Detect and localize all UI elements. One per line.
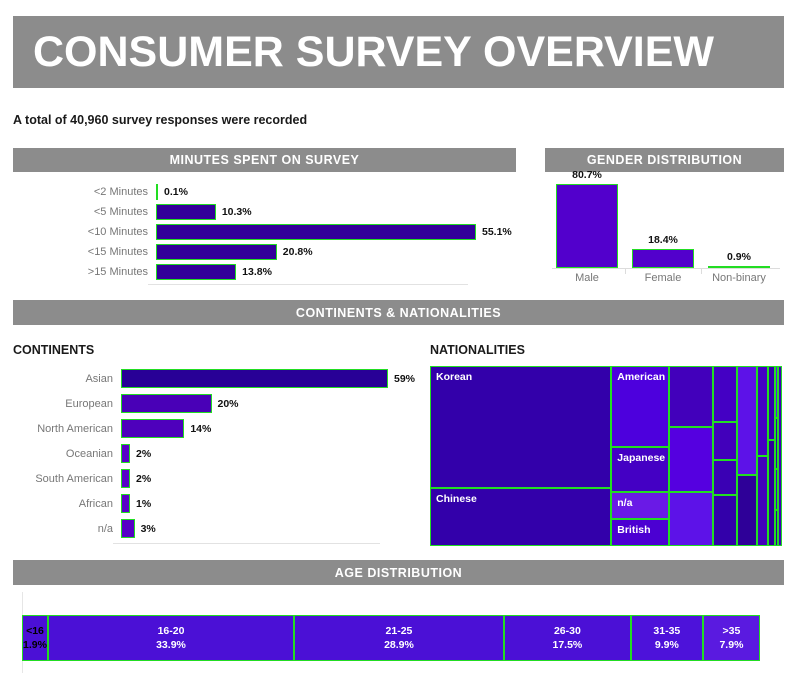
treemap-cell-labeled: Japanese bbox=[611, 447, 669, 492]
bar-category-label: South American bbox=[13, 473, 121, 485]
bar-value-label: 55.1% bbox=[476, 226, 512, 238]
continents-bar-chart: Asian59%European20%North American14%Ocea… bbox=[13, 366, 413, 548]
bar-rect bbox=[121, 494, 130, 513]
gender-value-label: 0.9% bbox=[708, 251, 770, 263]
treemap-cell-label: Chinese bbox=[436, 493, 477, 505]
bar-category-label: n/a bbox=[13, 523, 121, 535]
gender-bar-column: 0.9% bbox=[708, 180, 770, 268]
treemap-cell-labeled: Chinese bbox=[430, 488, 611, 546]
age-segment-value: 28.9% bbox=[384, 638, 414, 652]
age-segment-value: 9.9% bbox=[655, 638, 679, 652]
treemap-cell bbox=[669, 492, 713, 546]
bar-value-label: 20.8% bbox=[277, 246, 313, 258]
page-title: CONSUMER SURVEY OVERVIEW bbox=[13, 31, 714, 74]
age-segment: <161.9% bbox=[22, 615, 48, 661]
gender-bar-rect bbox=[632, 249, 694, 268]
section-header-age: AGE DISTRIBUTION bbox=[13, 560, 784, 585]
bar-row: <10 Minutes55.1% bbox=[13, 222, 516, 242]
age-segment-value: 1.9% bbox=[23, 638, 47, 652]
treemap-cell bbox=[757, 366, 768, 456]
treemap-cell-labeled: Korean bbox=[430, 366, 611, 488]
age-segment-label: 26-30 bbox=[554, 624, 581, 638]
bar-value-label: 14% bbox=[184, 423, 211, 435]
bar-rect bbox=[121, 394, 212, 413]
age-segment-value: 17.5% bbox=[552, 638, 582, 652]
treemap-cell bbox=[713, 366, 737, 422]
bar-value-label: 2% bbox=[130, 473, 151, 485]
treemap-cell-labeled: British bbox=[611, 519, 669, 546]
age-distribution-stacked-bar: <161.9%16-2033.9%21-2528.9%26-3017.5%31-… bbox=[22, 615, 748, 661]
gender-value-label: 18.4% bbox=[632, 234, 694, 246]
treemap-cell bbox=[713, 422, 737, 460]
bar-value-label: 3% bbox=[135, 523, 156, 535]
bar-category-label: North American bbox=[13, 423, 121, 435]
treemap-cell bbox=[713, 460, 737, 495]
bar-category-label: <10 Minutes bbox=[13, 226, 156, 238]
bar-category-label: <2 Minutes bbox=[13, 186, 156, 198]
bar-rect bbox=[121, 419, 184, 438]
bar-rect bbox=[156, 264, 236, 280]
chart-axis-line bbox=[113, 543, 380, 544]
bar-category-label: <15 Minutes bbox=[13, 246, 156, 258]
treemap-cell-labeled: n/a bbox=[611, 492, 669, 519]
gender-bar-column: 80.7% bbox=[556, 180, 618, 268]
gender-bar-rect bbox=[556, 184, 618, 268]
age-segment: 16-2033.9% bbox=[48, 615, 294, 661]
age-segment-label: >35 bbox=[723, 624, 741, 638]
continents-subtitle: CONTINENTS bbox=[13, 343, 94, 357]
bar-rect bbox=[156, 204, 216, 220]
bar-category-label: Oceanian bbox=[13, 448, 121, 460]
age-segment-label: 31-35 bbox=[653, 624, 680, 638]
gender-value-label: 80.7% bbox=[556, 169, 618, 181]
treemap-cell-labeled: American bbox=[611, 366, 669, 447]
gender-bar-column: 18.4% bbox=[632, 180, 694, 268]
treemap-cell bbox=[737, 366, 757, 475]
bar-row: South American2% bbox=[13, 466, 413, 491]
treemap-cell-label: Japanese bbox=[617, 452, 665, 464]
bar-row: European20% bbox=[13, 391, 413, 416]
bar-value-label: 13.8% bbox=[236, 266, 272, 278]
bar-row: n/a3% bbox=[13, 516, 413, 541]
bar-rect bbox=[121, 444, 130, 463]
gender-axis-line bbox=[552, 268, 780, 269]
dashboard-root: CONSUMER SURVEY OVERVIEW A total of 40,9… bbox=[0, 0, 797, 675]
gender-axis-tick bbox=[701, 268, 702, 274]
age-segment-label: 21-25 bbox=[386, 624, 413, 638]
age-segment-value: 7.9% bbox=[719, 638, 743, 652]
gender-category-label: Female bbox=[632, 272, 694, 284]
bar-category-label: <5 Minutes bbox=[13, 206, 156, 218]
treemap-cell-label: Korean bbox=[436, 371, 472, 383]
bar-rect bbox=[121, 469, 130, 488]
bar-category-label: African bbox=[13, 498, 121, 510]
gender-category-label: Non-binary bbox=[708, 272, 770, 284]
bar-row: Oceanian2% bbox=[13, 441, 413, 466]
bar-category-label: European bbox=[13, 398, 121, 410]
gender-axis-tick bbox=[625, 268, 626, 274]
bar-row: <2 Minutes0.1% bbox=[13, 182, 516, 202]
section-header-continents-nationalities: CONTINENTS & NATIONALITIES bbox=[13, 300, 784, 325]
bar-rect bbox=[121, 519, 135, 538]
bar-value-label: 59% bbox=[388, 373, 415, 385]
chart-axis-line bbox=[148, 284, 468, 285]
bar-category-label: Asian bbox=[13, 373, 121, 385]
bar-row: North American14% bbox=[13, 416, 413, 441]
dashboard-title-banner: CONSUMER SURVEY OVERVIEW bbox=[13, 16, 784, 88]
bar-row: Asian59% bbox=[13, 366, 413, 391]
response-total-subtitle: A total of 40,960 survey responses were … bbox=[13, 113, 307, 127]
bar-rect bbox=[156, 244, 277, 260]
nationalities-subtitle: NATIONALITIES bbox=[430, 343, 525, 357]
treemap-cell bbox=[757, 456, 768, 546]
age-segment-value: 33.9% bbox=[156, 638, 186, 652]
bar-value-label: 1% bbox=[130, 498, 151, 510]
section-header-minutes: MINUTES SPENT ON SURVEY bbox=[13, 148, 516, 172]
age-segment: 31-359.9% bbox=[631, 615, 703, 661]
treemap-cell bbox=[778, 366, 782, 546]
minutes-spent-bar-chart: <2 Minutes0.1%<5 Minutes10.3%<10 Minutes… bbox=[13, 182, 516, 282]
treemap-cell-label: n/a bbox=[617, 497, 632, 509]
bar-value-label: 10.3% bbox=[216, 206, 252, 218]
bar-value-label: 0.1% bbox=[158, 186, 188, 198]
treemap-cell bbox=[737, 475, 757, 546]
nationalities-treemap: KoreanChineseAmericanJapanesen/aBritish bbox=[430, 366, 782, 546]
age-segment-label: 16-20 bbox=[158, 624, 185, 638]
bar-rect bbox=[156, 224, 476, 240]
bar-row: African1% bbox=[13, 491, 413, 516]
bar-rect bbox=[121, 369, 388, 388]
bar-value-label: 20% bbox=[212, 398, 239, 410]
bar-row: <15 Minutes20.8% bbox=[13, 242, 516, 262]
bar-value-label: 2% bbox=[130, 448, 151, 460]
treemap-cell-label: British bbox=[617, 524, 650, 536]
treemap-cell bbox=[713, 495, 737, 546]
age-segment: 26-3017.5% bbox=[504, 615, 631, 661]
gender-category-label: Male bbox=[556, 272, 618, 284]
bar-row: <5 Minutes10.3% bbox=[13, 202, 516, 222]
bar-category-label: >15 Minutes bbox=[13, 266, 156, 278]
treemap-cell bbox=[669, 427, 713, 492]
age-segment-label: <16 bbox=[26, 624, 44, 638]
age-guide-line-top bbox=[22, 592, 23, 615]
treemap-cell-label: American bbox=[617, 371, 665, 383]
bar-row: >15 Minutes13.8% bbox=[13, 262, 516, 282]
age-segment: 21-2528.9% bbox=[294, 615, 504, 661]
treemap-cell bbox=[669, 366, 713, 427]
age-guide-line-bottom bbox=[22, 661, 23, 673]
age-segment: >357.9% bbox=[703, 615, 760, 661]
